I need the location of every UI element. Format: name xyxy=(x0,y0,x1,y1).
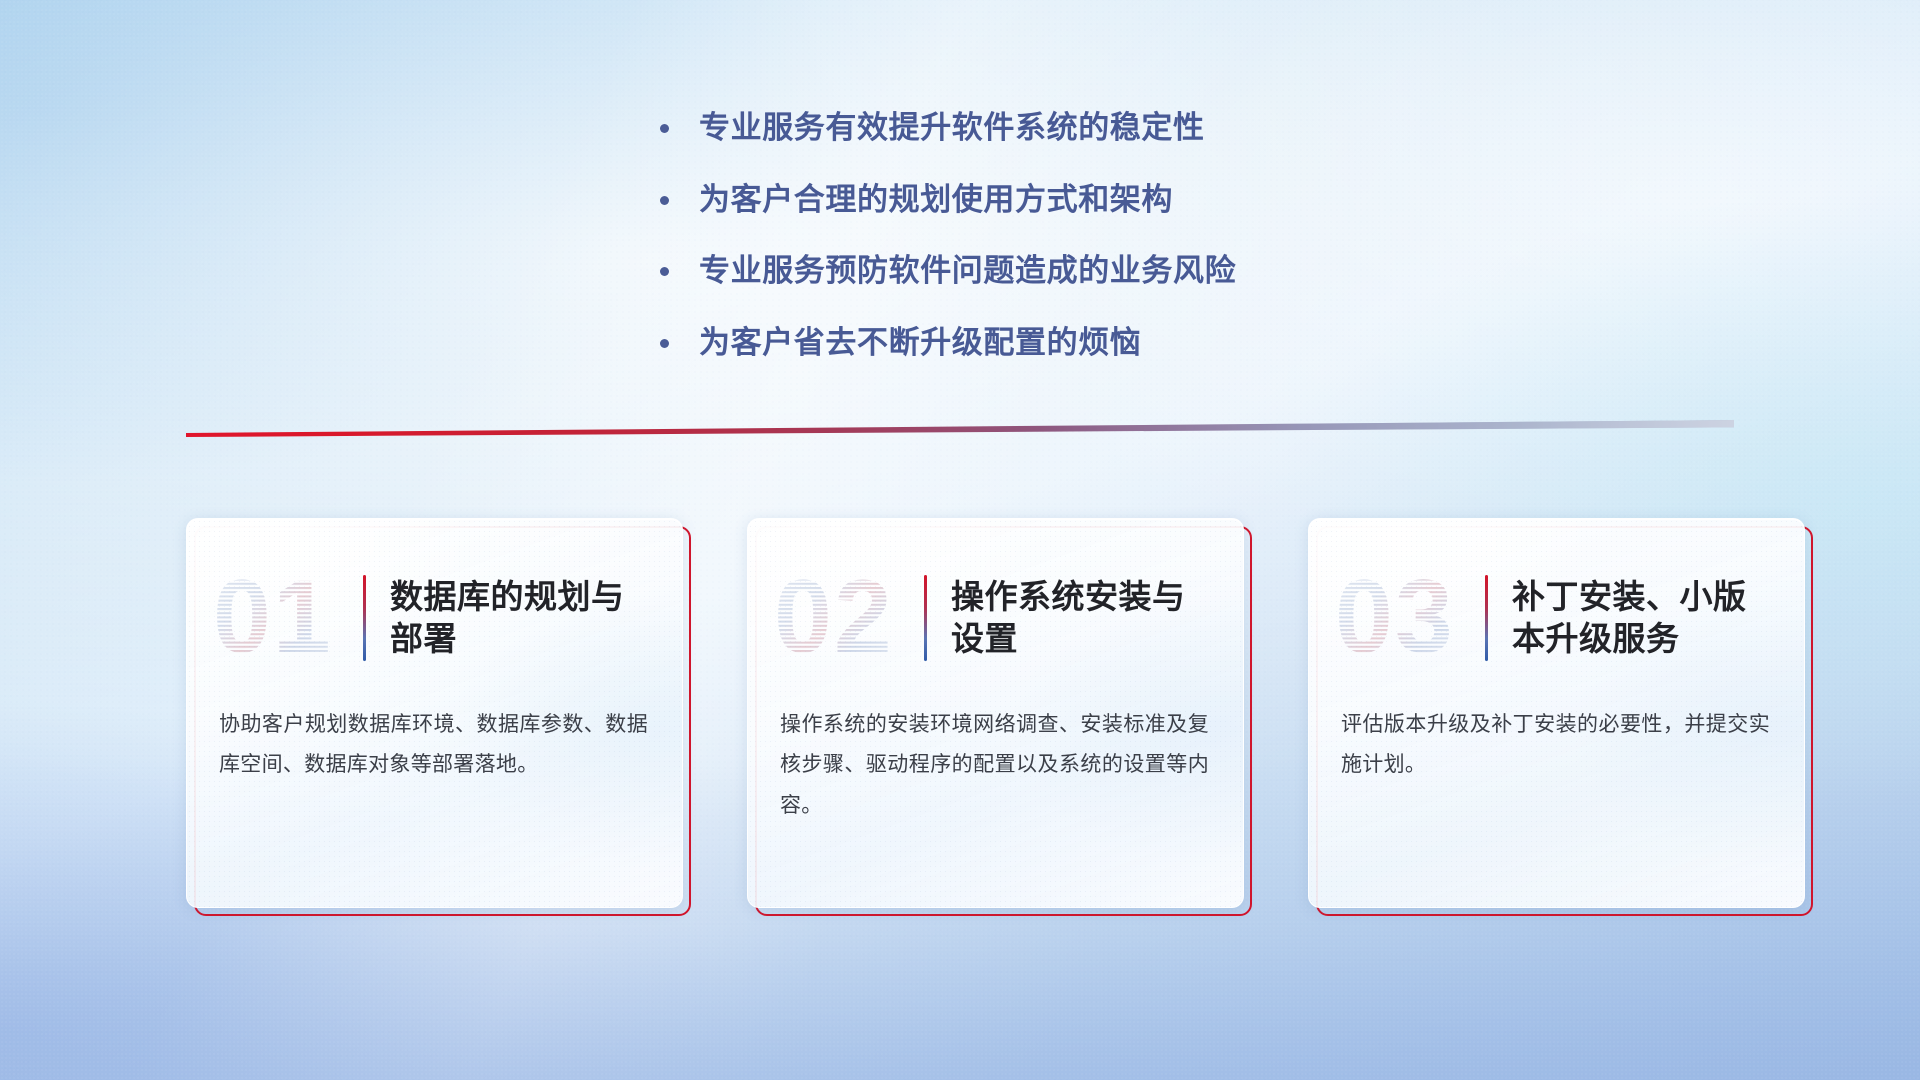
bullet-label: 为客户省去不断升级配置的烦恼 xyxy=(699,323,1141,363)
benefits-bullet-list: 专业服务有效提升软件系统的稳定性 为客户合理的规划使用方式和架构 专业服务预防软… xyxy=(660,108,1400,363)
card-header: 01 数据库的规划与部署 xyxy=(187,519,682,687)
bullet-dot-icon xyxy=(660,196,669,205)
bullet-dot-icon xyxy=(660,124,669,133)
card-number-watermark-icon: 01 xyxy=(211,566,345,670)
service-card[interactable]: 02 操作系统安装与设置 操作系统的安装环境网络调查、安装标准及复核步骤、驱动程… xyxy=(747,518,1244,908)
card-title: 操作系统安装与设置 xyxy=(951,576,1217,659)
card-description: 协助客户规划数据库环境、数据库参数、数据库空间、数据库对象等部署落地。 xyxy=(187,687,682,786)
bullet-item: 专业服务有效提升软件系统的稳定性 xyxy=(660,108,1400,148)
service-card-row: 01 数据库的规划与部署 协助客户规划数据库环境、数据库参数、数据库空间、数据库… xyxy=(186,518,1806,913)
bullet-label: 专业服务有效提升软件系统的稳定性 xyxy=(699,108,1205,148)
bullet-dot-icon xyxy=(660,339,669,348)
bullet-item: 为客户省去不断升级配置的烦恼 xyxy=(660,323,1400,363)
card-divider-rule xyxy=(1485,575,1488,661)
card-surface: 02 操作系统安装与设置 操作系统的安装环境网络调查、安装标准及复核步骤、驱动程… xyxy=(747,518,1244,908)
service-card[interactable]: 03 补丁安装、小版本升级服务 评估版本升级及补丁安装的必要性，并提交实施计划。 xyxy=(1308,518,1805,908)
bullet-item: 专业服务预防软件问题造成的业务风险 xyxy=(660,251,1400,291)
svg-text:01: 01 xyxy=(213,566,333,670)
card-number-watermark-icon: 02 xyxy=(772,566,906,670)
card-divider-rule xyxy=(363,575,366,661)
bullet-label: 为客户合理的规划使用方式和架构 xyxy=(699,180,1173,220)
slide-stage: 专业服务有效提升软件系统的稳定性 为客户合理的规划使用方式和架构 专业服务预防软… xyxy=(0,0,1920,1080)
service-card[interactable]: 01 数据库的规划与部署 协助客户规划数据库环境、数据库参数、数据库空间、数据库… xyxy=(186,518,683,908)
card-divider-rule xyxy=(924,575,927,661)
card-title: 补丁安装、小版本升级服务 xyxy=(1512,576,1778,659)
card-header: 02 操作系统安装与设置 xyxy=(748,519,1243,687)
card-number-watermark-icon: 03 xyxy=(1333,566,1467,670)
svg-text:02: 02 xyxy=(774,566,894,670)
card-header: 03 补丁安装、小版本升级服务 xyxy=(1309,519,1804,687)
bullet-label: 专业服务预防软件问题造成的业务风险 xyxy=(699,251,1236,291)
bullet-dot-icon xyxy=(660,267,669,276)
card-title: 数据库的规划与部署 xyxy=(390,576,656,659)
card-surface: 01 数据库的规划与部署 协助客户规划数据库环境、数据库参数、数据库空间、数据库… xyxy=(186,518,683,908)
card-description: 评估版本升级及补丁安装的必要性，并提交实施计划。 xyxy=(1309,687,1804,786)
card-description: 操作系统的安装环境网络调查、安装标准及复核步骤、驱动程序的配置以及系统的设置等内… xyxy=(748,687,1243,826)
bullet-item: 为客户合理的规划使用方式和架构 xyxy=(660,180,1400,220)
gradient-wedge-divider xyxy=(186,420,1734,442)
card-surface: 03 补丁安装、小版本升级服务 评估版本升级及补丁安装的必要性，并提交实施计划。 xyxy=(1308,518,1805,908)
svg-text:03: 03 xyxy=(1335,566,1455,670)
